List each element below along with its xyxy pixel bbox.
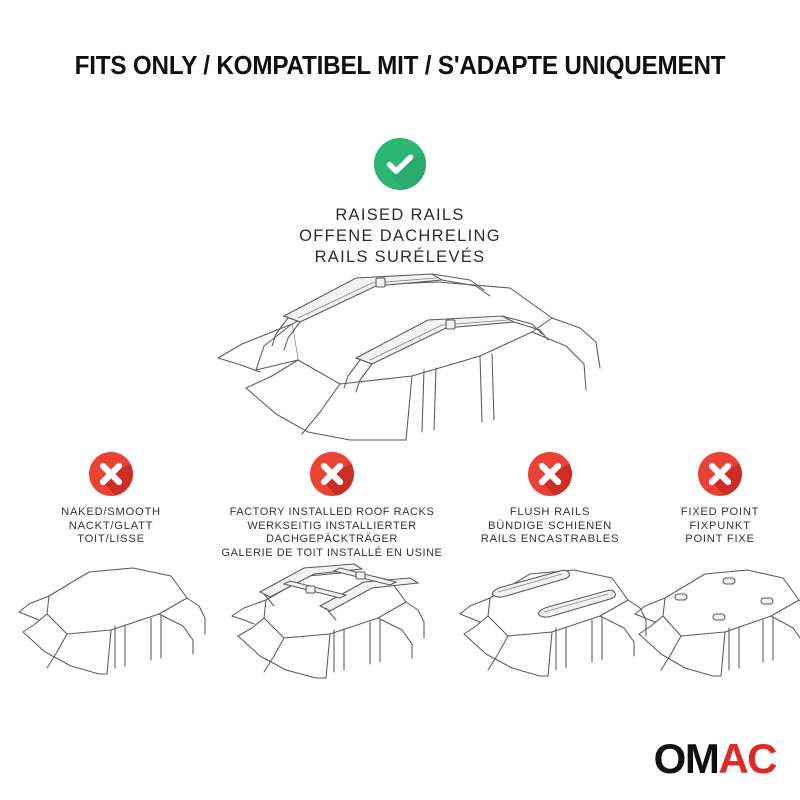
x-mark-glyph: [310, 452, 354, 496]
check-circle-icon: [374, 138, 426, 190]
compatible-line-en: RAISED RAILS: [0, 205, 800, 226]
car-roof-with-raised-rails-illustration: [180, 272, 620, 452]
caption-line-fr: TOIT/LISSE: [8, 533, 214, 547]
incompatible-item-flush-rails: FLUSH RAILS BÜNDIGE SCHIENEN RAILS ENCAS…: [448, 452, 652, 547]
logo-text-dark: OM: [654, 738, 719, 780]
caption-line-de-2: DACHGEPÄCKTRÄGER: [204, 533, 460, 547]
caption-line-en: FLUSH RAILS: [448, 506, 652, 520]
check-mark-glyph: [374, 138, 426, 190]
page-title: FITS ONLY / KOMPATIBEL MIT / S'ADAPTE UN…: [20, 52, 780, 81]
incompatible-caption: FIXED POINT FIXPUNKT POINT FIXE: [640, 506, 800, 547]
x-circle-icon: [310, 452, 354, 496]
compatible-caption: RAISED RAILS OFFENE DACHRELING RAILS SUR…: [0, 205, 800, 268]
incompatible-item-factory-rack: FACTORY INSTALLED ROOF RACKS WERKSEITIG …: [204, 452, 460, 560]
caption-line-de: FIXPUNKT: [640, 520, 800, 534]
car-roof-naked-smooth-illustration: [11, 556, 211, 676]
incompatible-caption: FLUSH RAILS BÜNDIGE SCHIENEN RAILS ENCAS…: [448, 506, 652, 547]
x-mark-glyph: [89, 452, 133, 496]
compatible-line-fr: RAILS SURÉLEVÉS: [0, 247, 800, 268]
caption-line-de: NACKT/GLATT: [8, 520, 214, 534]
x-mark-glyph: [528, 452, 572, 496]
x-mark-glyph: [698, 452, 742, 496]
caption-line-en: FIXED POINT: [640, 506, 800, 520]
incompatible-item-fixed-point: FIXED POINT FIXPUNKT POINT FIXE: [640, 452, 800, 547]
omac-logo: OMAC: [654, 738, 776, 780]
caption-line-en: FACTORY INSTALLED ROOF RACKS: [204, 506, 460, 520]
caption-line-fr: RAILS ENCASTRABLES: [448, 533, 652, 547]
compatible-line-de: OFFENE DACHRELING: [0, 226, 800, 247]
x-circle-icon: [698, 452, 742, 496]
car-roof-factory-installed-rack-illustration: [222, 552, 442, 680]
compatible-section: RAISED RAILS OFFENE DACHRELING RAILS SUR…: [0, 138, 800, 268]
incompatible-item-naked-smooth: NAKED/SMOOTH NACKT/GLATT TOIT/LISSE: [8, 452, 214, 547]
x-circle-icon: [528, 452, 572, 496]
incompatible-caption: NAKED/SMOOTH NACKT/GLATT TOIT/LISSE: [8, 506, 214, 547]
caption-line-en: NAKED/SMOOTH: [8, 506, 214, 520]
caption-line-fr: POINT FIXE: [640, 533, 800, 547]
logo-text-red: AC: [718, 738, 776, 780]
x-circle-icon: [89, 452, 133, 496]
incompatible-section: NAKED/SMOOTH NACKT/GLATT TOIT/LISSE: [0, 452, 800, 702]
car-roof-fixed-point-illustration: [627, 552, 800, 678]
caption-line-de-1: WERKSEITIG INSTALLIERTER: [204, 520, 460, 534]
caption-line-de: BÜNDIGE SCHIENEN: [448, 520, 652, 534]
car-roof-flush-rails-illustration: [452, 556, 648, 678]
